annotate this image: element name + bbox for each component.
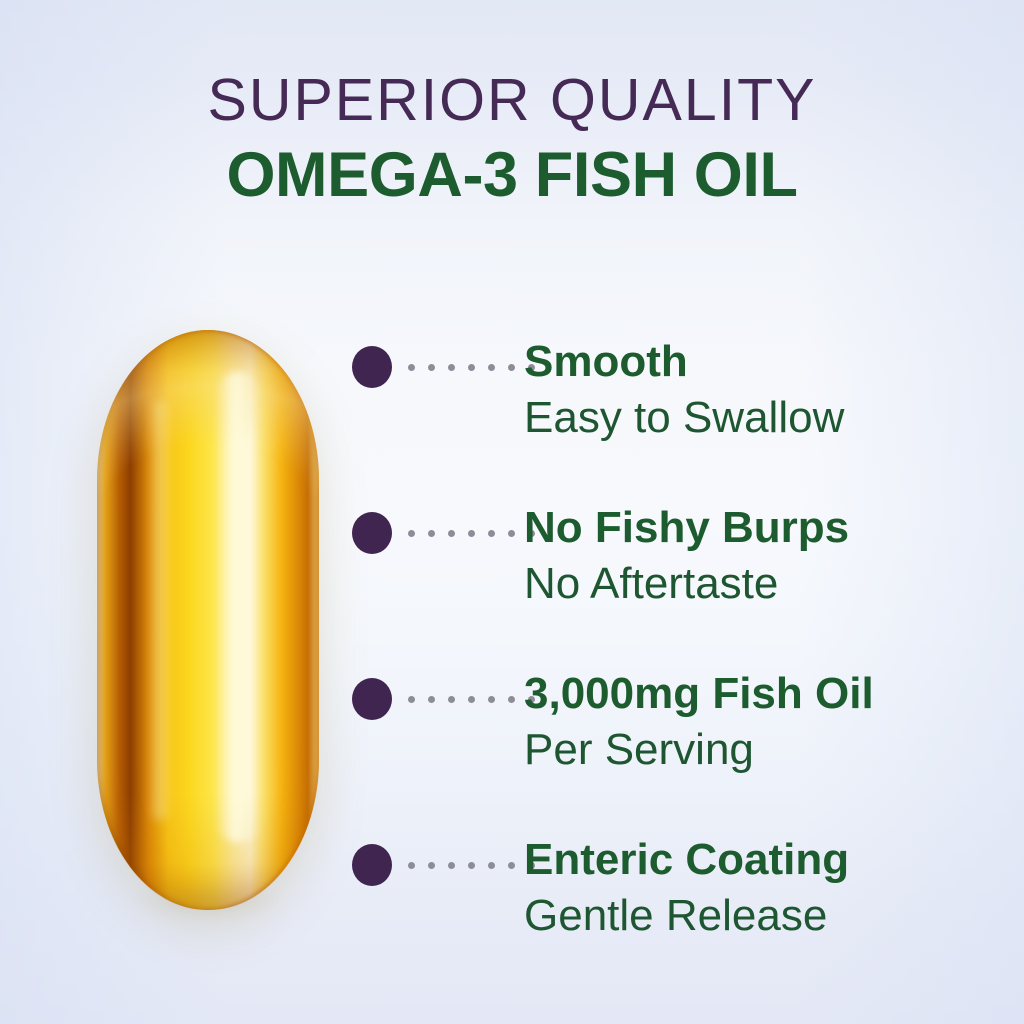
feature-marker [352, 512, 535, 554]
filled-circle-bullet-icon [352, 678, 392, 720]
page-eyebrow-title: SUPERIOR QUALITY [0, 66, 1024, 134]
feature-marker [352, 844, 535, 886]
feature-item-dosage: 3,000mg Fish Oil Per Serving [352, 672, 992, 838]
feature-list: Smooth Easy to Swallow No Fishy Burps No… [352, 340, 992, 1004]
feature-title: Smooth [524, 334, 844, 390]
filled-circle-bullet-icon [352, 512, 392, 554]
headline-block: SUPERIOR QUALITY OMEGA-3 FISH OIL [0, 66, 1024, 212]
filled-circle-bullet-icon [352, 346, 392, 388]
feature-text: No Fishy Burps No Aftertaste [524, 500, 849, 612]
feature-item-no-fishy-burps: No Fishy Burps No Aftertaste [352, 506, 992, 672]
feature-subtitle: Gentle Release [524, 888, 849, 944]
feature-subtitle: Easy to Swallow [524, 390, 844, 446]
dotted-leader-icon [408, 696, 535, 703]
filled-circle-bullet-icon [352, 844, 392, 886]
feature-subtitle: No Aftertaste [524, 556, 849, 612]
feature-title: 3,000mg Fish Oil [524, 666, 874, 722]
dotted-leader-icon [408, 364, 535, 371]
softgel-capsule-image [97, 330, 319, 910]
feature-subtitle: Per Serving [524, 722, 874, 778]
capsule-body [97, 330, 319, 910]
feature-item-enteric-coating: Enteric Coating Gentle Release [352, 838, 992, 1004]
feature-item-smooth: Smooth Easy to Swallow [352, 340, 992, 506]
dotted-leader-icon [408, 862, 535, 869]
feature-text: Enteric Coating Gentle Release [524, 832, 849, 944]
product-feature-poster: SUPERIOR QUALITY OMEGA-3 FISH OIL Smooth [0, 0, 1024, 1024]
feature-marker [352, 346, 535, 388]
feature-marker [352, 678, 535, 720]
feature-text: 3,000mg Fish Oil Per Serving [524, 666, 874, 778]
feature-title: Enteric Coating [524, 832, 849, 888]
dotted-leader-icon [408, 530, 535, 537]
page-title: OMEGA-3 FISH OIL [0, 138, 1024, 212]
feature-title: No Fishy Burps [524, 500, 849, 556]
feature-text: Smooth Easy to Swallow [524, 334, 844, 446]
